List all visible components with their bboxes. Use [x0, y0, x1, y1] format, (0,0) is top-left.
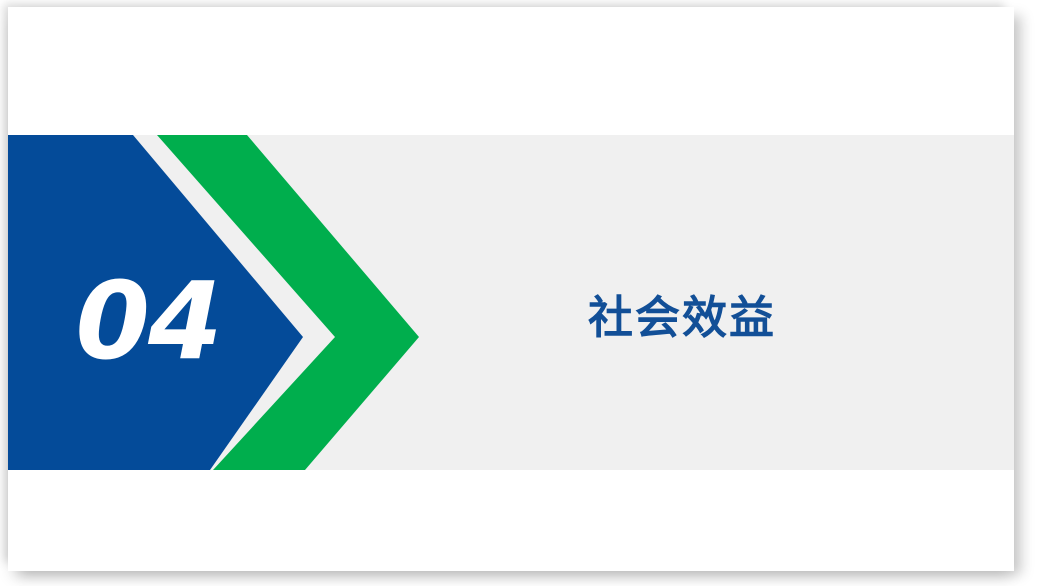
slide-canvas: 04 社会效益 [0, 0, 1044, 586]
section-title: 社会效益 [588, 292, 776, 344]
section-number: 04 [72, 269, 224, 376]
slide-page: 04 社会效益 [8, 7, 1014, 571]
